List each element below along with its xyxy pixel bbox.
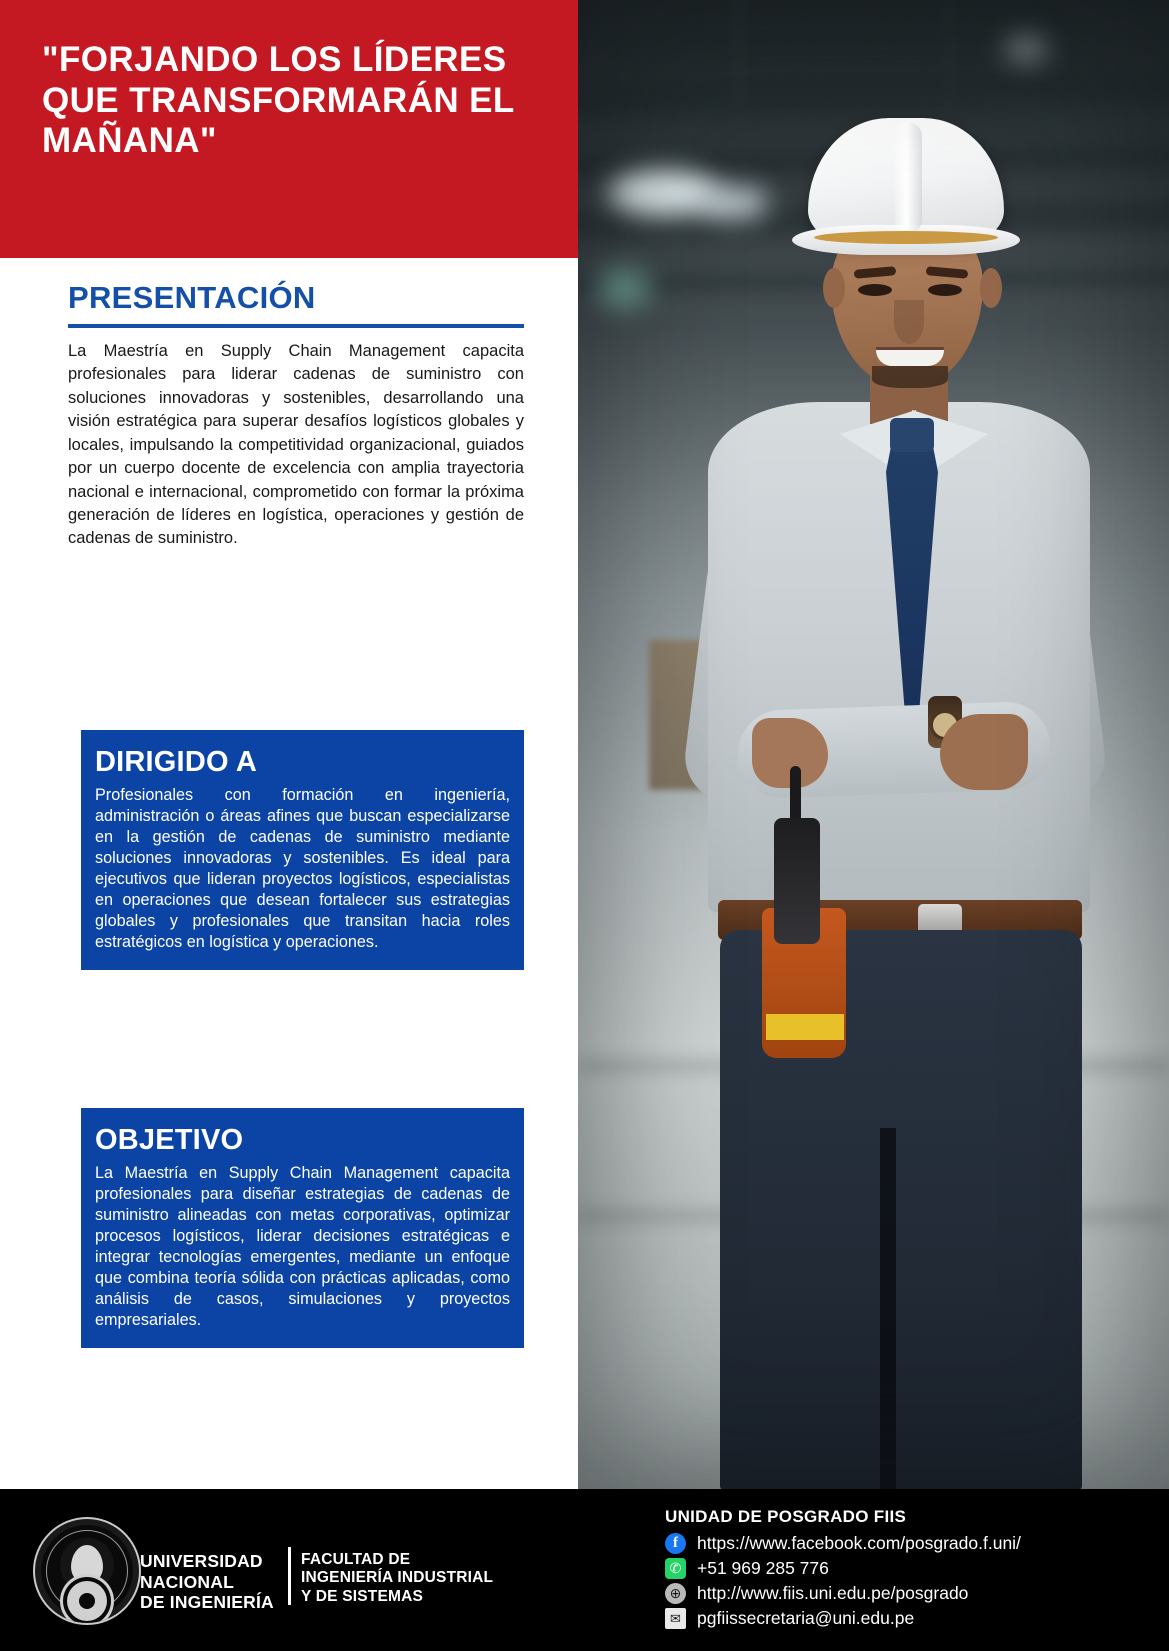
faculty-name: FACULTAD DE INGENIERÍA INDUSTRIAL Y DE S… bbox=[301, 1551, 493, 1606]
footer-divider bbox=[288, 1547, 291, 1605]
presentacion-underline bbox=[68, 324, 524, 328]
whatsapp-icon: ✆ bbox=[665, 1558, 686, 1579]
facebook-icon: f bbox=[665, 1533, 686, 1554]
contact-block: UNIDAD DE POSGRADO FIIS f https://www.fa… bbox=[665, 1507, 1145, 1633]
contact-row-email[interactable]: ✉ pgfiissecretaria@uni.edu.pe bbox=[665, 1608, 1145, 1629]
university-line-2: NACIONAL bbox=[140, 1572, 274, 1593]
dirigido-a-body: Profesionales con formación en ingenierí… bbox=[95, 785, 510, 954]
mail-icon: ✉ bbox=[665, 1608, 686, 1629]
dirigido-a-card: DIRIGIDO A Profesionales con formación e… bbox=[81, 730, 524, 970]
contact-row-facebook[interactable]: f https://www.facebook.com/posgrado.f.un… bbox=[665, 1533, 1145, 1554]
photo-vignette bbox=[578, 0, 1169, 1489]
hero-photo bbox=[578, 0, 1169, 1489]
university-name: UNIVERSIDAD NACIONAL DE INGENIERÍA bbox=[140, 1551, 274, 1613]
objetivo-body: La Maestría en Supply Chain Management c… bbox=[95, 1163, 510, 1332]
objetivo-card: OBJETIVO La Maestría en Supply Chain Man… bbox=[81, 1108, 524, 1348]
faculty-line-1: FACULTAD DE bbox=[301, 1551, 493, 1569]
email-address[interactable]: pgfiissecretaria@uni.edu.pe bbox=[697, 1608, 914, 1629]
content-column: PRESENTACIÓN La Maestría en Supply Chain… bbox=[0, 258, 578, 1489]
university-line-3: DE INGENIERÍA bbox=[140, 1592, 274, 1613]
footer-bar: 1876 UNIVERSIDAD NACIONAL DE INGENIERÍA … bbox=[0, 1489, 1169, 1651]
website-url[interactable]: http://www.fiis.uni.edu.pe/posgrado bbox=[697, 1583, 968, 1604]
presentacion-heading: PRESENTACIÓN bbox=[68, 280, 316, 316]
page-title: "FORJANDO LOS LÍDERES QUE TRANSFORMARÁN … bbox=[42, 40, 542, 162]
faculty-line-3: Y DE SISTEMAS bbox=[301, 1588, 493, 1606]
contact-row-whatsapp[interactable]: ✆ +51 969 285 776 bbox=[665, 1558, 1145, 1579]
contact-title: UNIDAD DE POSGRADO FIIS bbox=[665, 1507, 1145, 1527]
seal-year: 1876 bbox=[79, 1610, 94, 1616]
presentacion-body: La Maestría en Supply Chain Management c… bbox=[68, 340, 524, 551]
university-line-1: UNIVERSIDAD bbox=[140, 1551, 274, 1572]
globe-icon: ⊕ bbox=[665, 1583, 686, 1604]
faculty-line-2: INGENIERÍA INDUSTRIAL bbox=[301, 1569, 493, 1587]
facebook-url[interactable]: https://www.facebook.com/posgrado.f.uni/ bbox=[697, 1533, 1021, 1554]
university-seal-icon: 1876 bbox=[33, 1517, 141, 1625]
contact-row-website[interactable]: ⊕ http://www.fiis.uni.edu.pe/posgrado bbox=[665, 1583, 1145, 1604]
headline-banner: "FORJANDO LOS LÍDERES QUE TRANSFORMARÁN … bbox=[0, 0, 578, 258]
dirigido-a-heading: DIRIGIDO A bbox=[95, 748, 510, 777]
whatsapp-number[interactable]: +51 969 285 776 bbox=[697, 1558, 829, 1579]
seal-figure bbox=[71, 1545, 103, 1583]
objetivo-heading: OBJETIVO bbox=[95, 1126, 510, 1155]
